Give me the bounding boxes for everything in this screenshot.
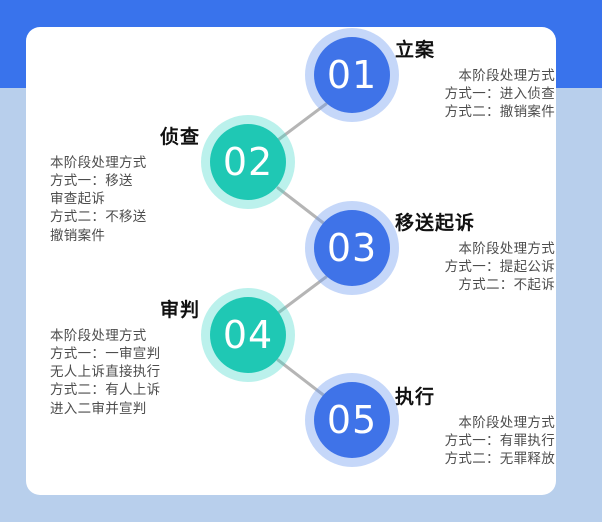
step-node-01[interactable]: 01 xyxy=(305,28,399,122)
step-text-block-02: 侦查 本阶段处理方式 方式一：移送 审查起诉 方式二：不移送 撤销案件 xyxy=(50,127,200,245)
step-number-02: 02 xyxy=(210,124,286,200)
step-body-04: 本阶段处理方式 方式一：一审宣判 无人上诉直接执行 方式二：有人上诉 进入二审并… xyxy=(50,327,200,418)
step-text-block-01: 立案 本阶段处理方式 方式一：进入侦查 方式二：撤销案件 xyxy=(395,40,555,121)
step-title-01: 立案 xyxy=(395,40,555,63)
step-body-05: 本阶段处理方式 方式一：有罪执行 方式二：无罪释放 xyxy=(395,414,555,469)
step-number-01: 01 xyxy=(314,37,390,113)
step-text-block-03: 移送起诉 本阶段处理方式 方式一：提起公诉 方式二：不起诉 xyxy=(395,213,555,294)
infographic-root: 01 02 03 04 05 立案 本阶段处理方式 方式一：进入侦查 方式二：撤… xyxy=(0,0,602,522)
step-number-04: 04 xyxy=(210,297,286,373)
step-title-04: 审判 xyxy=(50,300,200,323)
step-number-03: 03 xyxy=(314,210,390,286)
step-node-04[interactable]: 04 xyxy=(201,288,295,382)
step-number-05: 05 xyxy=(314,382,390,458)
step-body-02: 本阶段处理方式 方式一：移送 审查起诉 方式二：不移送 撤销案件 xyxy=(50,154,200,245)
step-title-05: 执行 xyxy=(395,387,555,410)
step-text-block-05: 执行 本阶段处理方式 方式一：有罪执行 方式二：无罪释放 xyxy=(395,387,555,468)
step-text-block-04: 审判 本阶段处理方式 方式一：一审宣判 无人上诉直接执行 方式二：有人上诉 进入… xyxy=(50,300,200,418)
step-node-05[interactable]: 05 xyxy=(305,373,399,467)
step-title-03: 移送起诉 xyxy=(395,213,555,236)
step-node-02[interactable]: 02 xyxy=(201,115,295,209)
step-node-03[interactable]: 03 xyxy=(305,201,399,295)
step-body-03: 本阶段处理方式 方式一：提起公诉 方式二：不起诉 xyxy=(395,240,555,295)
step-body-01: 本阶段处理方式 方式一：进入侦查 方式二：撤销案件 xyxy=(395,67,555,122)
step-title-02: 侦查 xyxy=(50,127,200,150)
